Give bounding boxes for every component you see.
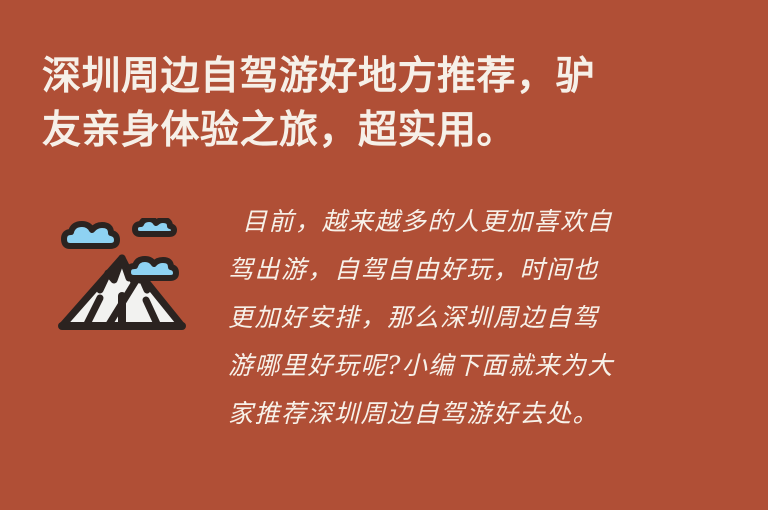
snow-mountain-with-clouds-icon: [52, 218, 192, 338]
title-line-1: 深圳周边自驾游好地方推荐，驴: [42, 50, 662, 104]
cloud-right-icon: [128, 259, 176, 278]
poster-canvas: 深圳周边自驾游好地方推荐，驴 友亲身体验之旅，超实用。: [0, 0, 768, 510]
body-line-5: 家推荐深圳周边自驾游好去处。: [228, 390, 664, 438]
body-line-2: 驾出游，自驾自由好玩，时间也: [228, 246, 664, 294]
body-line-3: 更加好安排，那么深圳周边自驾: [228, 294, 664, 342]
cloud-left-icon: [64, 224, 117, 246]
body-line-1: 目前，越来越多的人更加喜欢自: [228, 198, 664, 246]
body-line-4: 游哪里好玩呢?小编下面就来为大: [228, 342, 664, 390]
page-title: 深圳周边自驾游好地方推荐，驴 友亲身体验之旅，超实用。: [42, 50, 662, 158]
body-paragraph: 目前，越来越多的人更加喜欢自 驾出游，自驾自由好玩，时间也 更加好安排，那么深圳…: [228, 198, 664, 438]
mountain-icon-svg: [52, 218, 192, 338]
title-line-2: 友亲身体验之旅，超实用。: [42, 104, 662, 158]
cloud-top-right-icon: [135, 219, 174, 234]
